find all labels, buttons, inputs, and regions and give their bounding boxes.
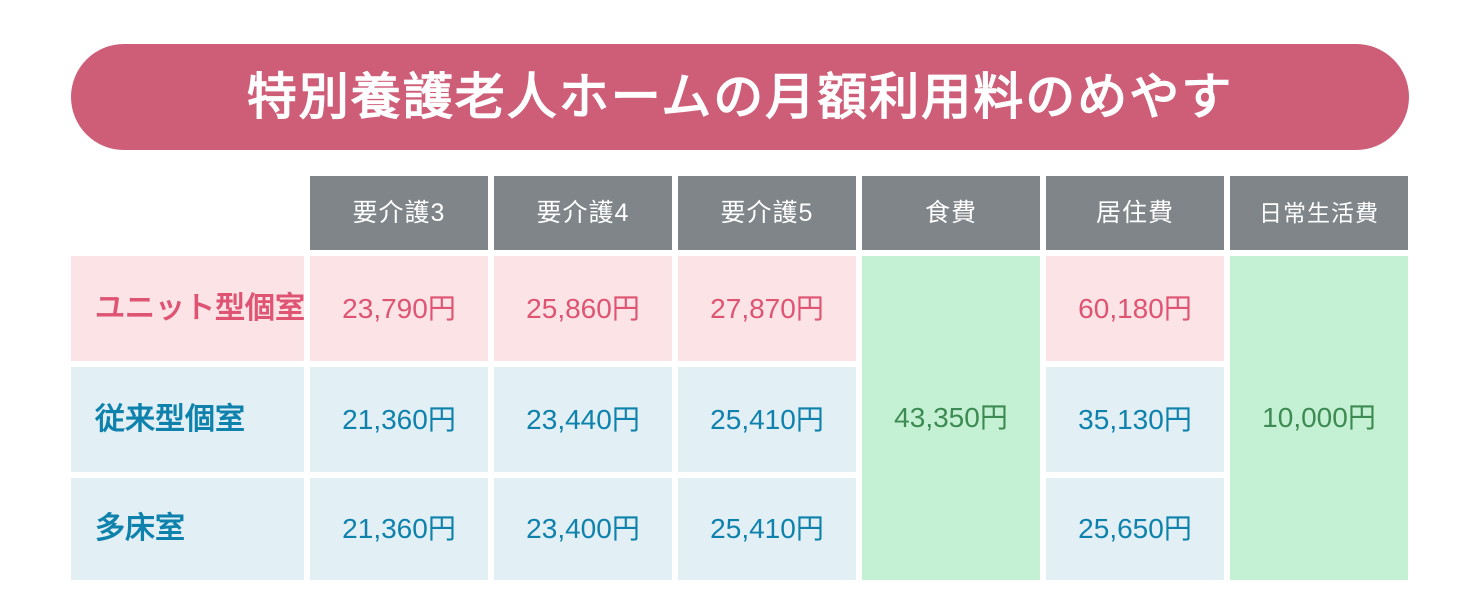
cell-conventional-private-room-care5: 25,410円 [678, 367, 856, 472]
row-label-unit-private-room: ユニット型個室 [71, 256, 304, 361]
column-header-care5: 要介護5 [678, 176, 856, 250]
cell-conventional-private-room-care4: 23,440円 [494, 367, 672, 472]
column-header-care4: 要介護4 [494, 176, 672, 250]
row-label-conventional-private-room: 従来型個室 [71, 367, 304, 472]
table-corner-cell [71, 176, 304, 250]
cell-multi-bed-room-care5: 25,410円 [678, 478, 856, 580]
page-title: 特別養護老人ホームの月額利用料のめやす [247, 72, 1234, 122]
column-header-care3: 要介護3 [310, 176, 488, 250]
cell-multi-bed-room-housing: 25,650円 [1046, 478, 1224, 580]
cell-conventional-private-room-care3: 21,360円 [310, 367, 488, 472]
cell-conventional-private-room-housing: 35,130円 [1046, 367, 1224, 472]
column-header-meal-fee: 食費 [862, 176, 1040, 250]
column-header-daily-living-fee: 日常生活費 [1230, 176, 1408, 250]
cell-daily-living-fee-merged: 10,000円 [1230, 256, 1408, 580]
cell-unit-private-room-care5: 27,870円 [678, 256, 856, 361]
cell-unit-private-room-housing: 60,180円 [1046, 256, 1224, 361]
cell-meal-fee-merged: 43,350円 [862, 256, 1040, 580]
cell-multi-bed-room-care3: 21,360円 [310, 478, 488, 580]
column-header-housing-fee: 居住費 [1046, 176, 1224, 250]
cell-unit-private-room-care3: 23,790円 [310, 256, 488, 361]
fee-table: 要介護3 要介護4 要介護5 食費 居住費 日常生活費 ユニット型個室 23,7… [71, 176, 1409, 562]
infographic-page: 特別養護老人ホームの月額利用料のめやす 要介護3 要介護4 要介護5 食費 居住… [0, 0, 1479, 613]
title-banner: 特別養護老人ホームの月額利用料のめやす [71, 44, 1409, 150]
cell-multi-bed-room-care4: 23,400円 [494, 478, 672, 580]
row-label-multi-bed-room: 多床室 [71, 478, 304, 580]
cell-unit-private-room-care4: 25,860円 [494, 256, 672, 361]
